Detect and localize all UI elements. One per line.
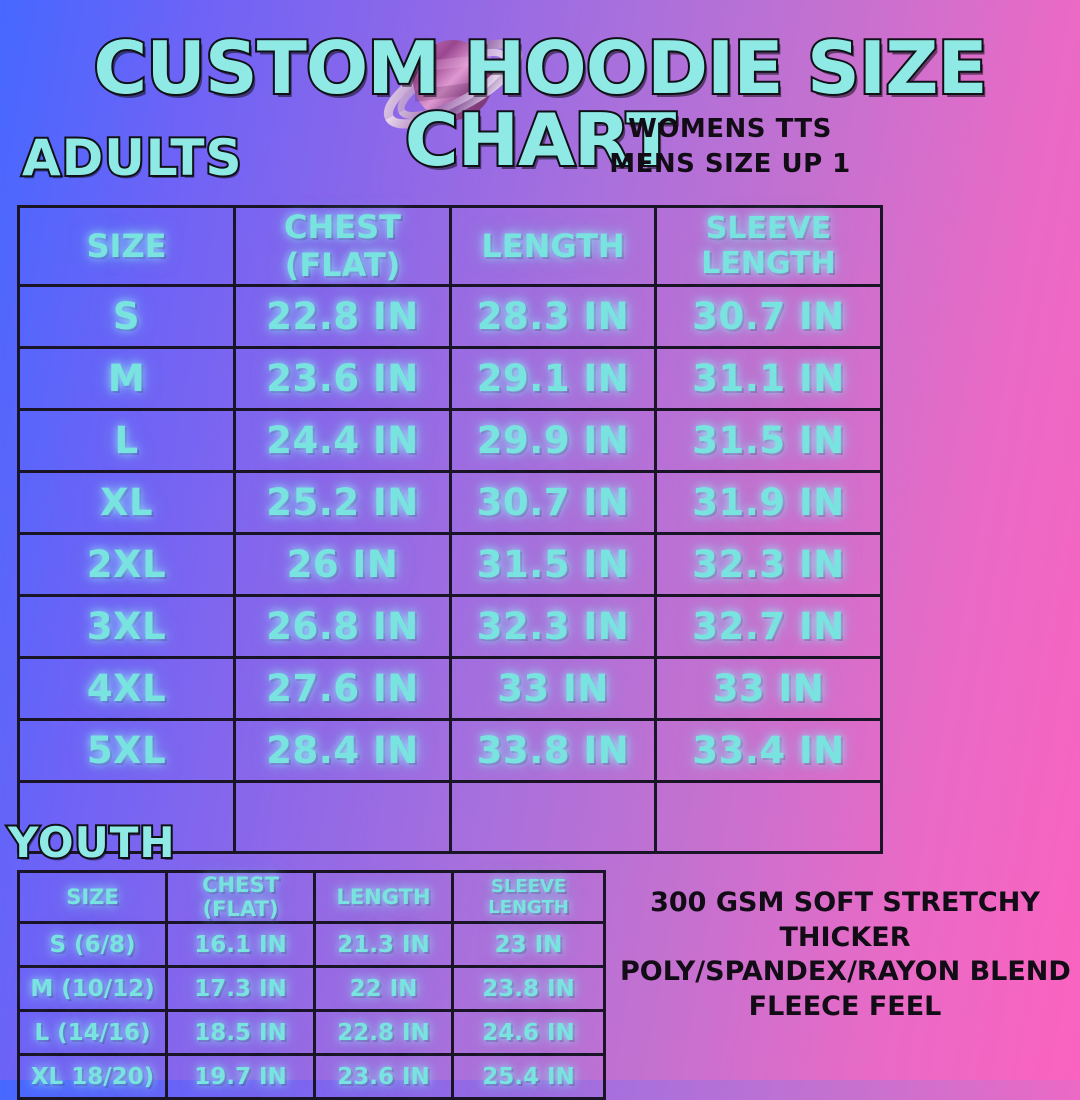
fabric-note-line-2: THICKER [620,921,1070,956]
cell-sleeve: 32.3 IN [656,534,882,596]
cell-sleeve [656,782,882,853]
column-header-sleeve-length: SLEEVE LENGTH [453,872,605,923]
table-row: 3XL 26.8 IN 32.3 IN 32.7 IN [19,596,882,658]
cell-chest: 24.4 IN [235,410,451,472]
cell-length: 22 IN [315,967,453,1011]
table-row: L 24.4 IN 29.9 IN 31.5 IN [19,410,882,472]
cell-chest: 28.4 IN [235,720,451,782]
cell-sleeve: 31.5 IN [656,410,882,472]
cell-size: 2XL [19,534,235,596]
cell-length: 32.3 IN [451,596,656,658]
cell-sleeve: 31.9 IN [656,472,882,534]
cell-length: 31.5 IN [451,534,656,596]
column-header-sleeve-length: SLEEVE LENGTH [656,207,882,286]
cell-chest: 16.1 IN [167,923,315,967]
cell-length [451,782,656,853]
cell-size: M [19,348,235,410]
cell-length: 29.9 IN [451,410,656,472]
cell-chest: 19.7 IN [167,1055,315,1099]
cell-chest: 26.8 IN [235,596,451,658]
cell-chest: 25.2 IN [235,472,451,534]
cell-size: S [19,286,235,348]
fit-note: WOMENS TTS MENS SIZE UP 1 [560,112,900,181]
fabric-note-line-1: 300 GSM SOFT STRETCHY [620,886,1070,921]
cell-size: L (14/16) [19,1011,167,1055]
adults-size-table: SIZE CHEST (FLAT) LENGTH SLEEVE LENGTH S… [17,205,883,854]
cell-size: M (10/12) [19,967,167,1011]
cell-length: 22.8 IN [315,1011,453,1055]
table-row: XL 18/20) 19.7 IN 23.6 IN 25.4 IN [19,1055,605,1099]
cell-length: 28.3 IN [451,286,656,348]
table-header-row: SIZE CHEST (FLAT) LENGTH SLEEVE LENGTH [19,207,882,286]
table-row: 2XL 26 IN 31.5 IN 32.3 IN [19,534,882,596]
cell-length: 29.1 IN [451,348,656,410]
cell-size: 4XL [19,658,235,720]
cell-size: XL 18/20) [19,1055,167,1099]
cell-size: XL [19,472,235,534]
table-header-row: SIZE CHEST (FLAT) LENGTH SLEEVE LENGTH [19,872,605,923]
youth-size-table: SIZE CHEST (FLAT) LENGTH SLEEVE LENGTH S… [17,870,606,1100]
column-header-size: SIZE [19,872,167,923]
fabric-note-line-3: POLY/SPANDEX/RAYON BLEND [620,955,1070,990]
cell-chest: 23.6 IN [235,348,451,410]
cell-length: 30.7 IN [451,472,656,534]
cell-sleeve: 24.6 IN [453,1011,605,1055]
cell-length: 33.8 IN [451,720,656,782]
cell-size: L [19,410,235,472]
cell-length: 21.3 IN [315,923,453,967]
table-row: XL 25.2 IN 30.7 IN 31.9 IN [19,472,882,534]
fit-note-line-2: MENS SIZE UP 1 [560,147,900,182]
cell-sleeve: 25.4 IN [453,1055,605,1099]
cell-sleeve: 33 IN [656,658,882,720]
column-header-size: SIZE [19,207,235,286]
cell-chest: 22.8 IN [235,286,451,348]
cell-sleeve: 32.7 IN [656,596,882,658]
cell-chest: 18.5 IN [167,1011,315,1055]
cell-chest: 27.6 IN [235,658,451,720]
column-header-length: LENGTH [315,872,453,923]
adults-section-label: ADULTS [22,133,243,183]
cell-sleeve: 31.1 IN [656,348,882,410]
column-header-chest: CHEST (FLAT) [235,207,451,286]
table-row: 5XL 28.4 IN 33.8 IN 33.4 IN [19,720,882,782]
table-row: 4XL 27.6 IN 33 IN 33 IN [19,658,882,720]
cell-length: 23.6 IN [315,1055,453,1099]
fabric-note: 300 GSM SOFT STRETCHY THICKER POLY/SPAND… [620,886,1070,1024]
fabric-note-line-4: FLEECE FEEL [620,990,1070,1025]
cell-sleeve: 23 IN [453,923,605,967]
cell-sleeve: 23.8 IN [453,967,605,1011]
cell-size: S (6/8) [19,923,167,967]
cell-length: 33 IN [451,658,656,720]
table-row: S (6/8) 16.1 IN 21.3 IN 23 IN [19,923,605,967]
table-row: S 22.8 IN 28.3 IN 30.7 IN [19,286,882,348]
column-header-chest: CHEST (FLAT) [167,872,315,923]
youth-section-label: YOUTH [8,822,176,864]
table-row: L (14/16) 18.5 IN 22.8 IN 24.6 IN [19,1011,605,1055]
cell-size: 5XL [19,720,235,782]
cell-chest [235,782,451,853]
table-row: M 23.6 IN 29.1 IN 31.1 IN [19,348,882,410]
cell-sleeve: 30.7 IN [656,286,882,348]
cell-chest: 17.3 IN [167,967,315,1011]
cell-chest: 26 IN [235,534,451,596]
cell-size: 3XL [19,596,235,658]
fit-note-line-1: WOMENS TTS [560,112,900,147]
cell-sleeve: 33.4 IN [656,720,882,782]
column-header-length: LENGTH [451,207,656,286]
table-row: M (10/12) 17.3 IN 22 IN 23.8 IN [19,967,605,1011]
